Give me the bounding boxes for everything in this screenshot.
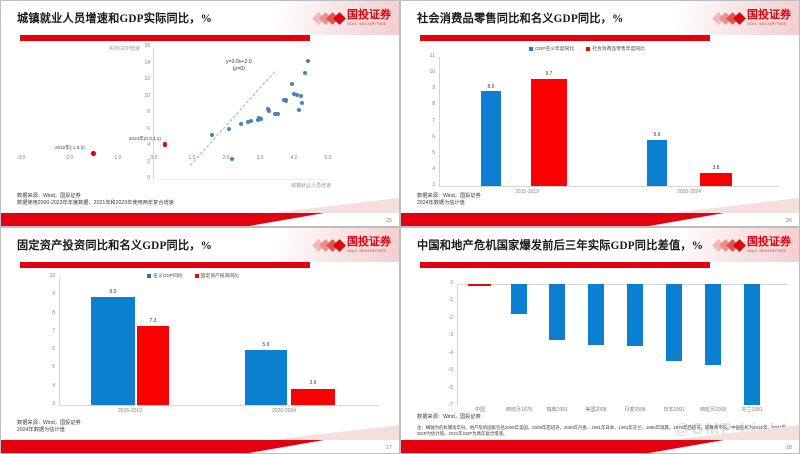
y-tick-3: 3 — [43, 402, 55, 407]
y-axis-line — [457, 284, 458, 406]
y-tick-16: 16 — [137, 44, 150, 49]
y-tick-6: 6 — [137, 127, 150, 132]
x-axis-title: 城镇就业人员增速 — [291, 182, 331, 189]
diamond-icon — [314, 238, 344, 253]
y-tick-8: 8 — [423, 102, 435, 107]
source-line-4a: 数据来源：Wind，国投证券 — [417, 413, 481, 421]
brand-logo-3: 国投证券 SDIC SECURITIES — [314, 233, 391, 257]
x-tick-denmark-2008: 丹麦2008 — [616, 408, 654, 413]
y-tick-n6: -6 — [437, 386, 453, 391]
source-line-1b: 数据使用2000-2023年年度数据，2021年和2023年使用两年复合增速 — [17, 199, 174, 207]
brand-name-en: SDIC SECURITIES — [747, 22, 791, 26]
bar-spain-2008 — [705, 284, 721, 365]
scatter-point — [299, 94, 303, 98]
legend-label-retail: 社会消费品零售年度同比 — [592, 45, 645, 52]
x-tick-sweden-1991: 瑞典1991 — [538, 408, 576, 413]
equation-pvalue: (ρ=0) — [233, 66, 245, 72]
x-tick-10: 1.0 — [182, 156, 202, 161]
y-tick-n5: -5 — [437, 368, 453, 373]
scatter-point — [249, 119, 253, 123]
y-tick-8: 8 — [137, 110, 150, 115]
y-tick-10: 10 — [43, 274, 55, 279]
brand-name-en: SDIC SECURITIES — [347, 22, 391, 26]
scatter-point — [297, 108, 301, 112]
y-tick-4: 4 — [43, 384, 55, 389]
y-tick-14: 14 — [137, 61, 150, 66]
bar-gdp-2020 — [245, 350, 287, 405]
scatter-point — [276, 112, 280, 116]
scatter-point — [306, 59, 310, 63]
bar-fai-2015 — [137, 326, 169, 405]
legend-swatch-red — [586, 47, 590, 51]
bar-value-gdp-2015: 8.9 — [99, 289, 127, 295]
y-tick-n3: -3 — [437, 333, 453, 338]
x-tick-50: 5.0 — [318, 156, 338, 161]
x-axis-line — [59, 405, 379, 406]
brand-logo-2: 国投证券 SDIC SECURITIES — [714, 6, 791, 30]
scatter-chart-1: 实际GDP增速 城镇就业人员增速 16 14 12 10 8 6 4 2 0 -… — [1, 41, 400, 191]
y-tick-5: 5 — [423, 151, 435, 156]
legend-item-fai: 固定资产投资同比 — [195, 272, 239, 279]
x-tick-n30: -3.0 — [11, 156, 31, 161]
brand-name-cn: 国投证券 — [347, 10, 391, 21]
legend-label-gdp: 名义GDP同比 — [153, 272, 183, 279]
x-tick-30: 3.0 — [250, 156, 270, 161]
slide-1: 城镇就业人员增速和GDP实际同比，% 国投证券 SDIC SECURITIES … — [0, 0, 400, 227]
diamond-icon — [714, 11, 744, 26]
y-tick-9: 9 — [43, 292, 55, 297]
bar-denmark-2008 — [627, 284, 643, 346]
page-title-2: 社会消费品零售同比和名义GDP同比，% — [417, 10, 623, 26]
scatter-point — [239, 122, 243, 126]
brand-name-en: SDIC SECURITIES — [747, 249, 791, 253]
slide-deck-grid: 城镇就业人员增速和GDP实际同比，% 国投证券 SDIC SECURITIES … — [0, 0, 800, 454]
legend-label-fai: 固定资产投资同比 — [201, 272, 239, 279]
page-title-3: 固定资产投资同比和名义GDP同比，% — [17, 237, 212, 253]
x-tick-2020-2024: 2020-2024 — [659, 190, 719, 195]
x-tick-spain-1978: 西班牙1978 — [500, 408, 538, 413]
y-tick-3: 3 — [423, 183, 435, 188]
bar-value-retail-2015: 9.7 — [535, 71, 563, 77]
x-axis-line — [153, 179, 328, 180]
y-tick-8: 8 — [43, 311, 55, 316]
legend-item-retail: 社会消费品零售年度同比 — [586, 45, 645, 52]
scatter-point-highlight-2022 — [91, 151, 96, 156]
bar-chart-2: GDP名义年度同比 社会消费品零售年度同比 11 10 9 8 7 6 5 4 … — [401, 41, 800, 196]
bar-value-fai-2020: 3.9 — [299, 380, 327, 386]
x-tick-40: 4.0 — [284, 156, 304, 161]
x-tick-2015-2019: 2015-2019 — [497, 190, 557, 195]
y-tick-12: 12 — [137, 77, 150, 82]
brand-name-cn: 国投证券 — [747, 10, 791, 21]
x-tick-n10: -1.0 — [107, 156, 127, 161]
y-tick-10: 10 — [137, 94, 150, 99]
scatter-label-2023: 2023年(0.3,4.1) — [129, 136, 161, 142]
x-tick-usa-2008: 美国2008 — [577, 408, 615, 413]
y-tick-n4: -4 — [437, 351, 453, 356]
y-tick-7: 7 — [43, 329, 55, 334]
y-tick-6: 6 — [423, 135, 435, 140]
y-tick-7: 7 — [423, 119, 435, 124]
scatter-point — [267, 109, 271, 113]
bar-gdp-2020 — [647, 140, 667, 186]
x-tick-finland-1991: 芬兰1991 — [733, 408, 771, 413]
page-number-1: 25 — [386, 218, 392, 224]
legend-label-gdp: GDP名义年度同比 — [535, 45, 574, 52]
footer-wedge-3 — [249, 425, 399, 453]
bar-value-gdp-2020: 5.9 — [252, 342, 280, 348]
regression-equation: y=3.0x+2.0 (ρ=0) — [226, 59, 252, 73]
y-tick-0: 0 — [441, 281, 453, 286]
footer-wedge-4 — [649, 425, 799, 453]
chart-legend-2: GDP名义年度同比 社会消费品零售年度同比 — [529, 45, 645, 52]
x-tick-japan-1991: 日本1991 — [655, 408, 693, 413]
slide-3: 固定资产投资同比和名义GDP同比，% 国投证券 SDIC SECURITIES … — [0, 227, 400, 454]
x-axis-line — [439, 186, 779, 187]
page-title-1: 城镇就业人员增速和GDP实际同比，% — [17, 10, 212, 26]
scatter-point-highlight-2023 — [163, 142, 168, 147]
chart-legend-3: 名义GDP同比 固定资产投资同比 — [147, 272, 239, 279]
bar-value-gdp-2020: 5.9 — [643, 132, 671, 138]
footer-wedge-1 — [249, 198, 399, 226]
bar-chart-3: 名义GDP同比 固定资产投资同比 10 9 8 7 6 5 4 3 8.9 7.… — [1, 268, 400, 418]
y-tick-4: 4 — [137, 143, 150, 148]
bar-value-fai-2015: 7.3 — [139, 318, 167, 324]
slide-2: 社会消费品零售同比和名义GDP同比，% 国投证券 SDIC SECURITIES… — [400, 0, 800, 227]
y-tick-5: 5 — [43, 365, 55, 370]
legend-item-gdp: GDP名义年度同比 — [529, 45, 574, 52]
y-tick-0: 0 — [137, 176, 150, 181]
source-line-2b: 2024年数据为估计值 — [417, 199, 465, 207]
scatter-point — [284, 98, 288, 102]
legend-swatch-red — [195, 274, 199, 278]
bar-gdp-2015 — [91, 297, 135, 405]
legend-item-gdp: 名义GDP同比 — [147, 272, 183, 279]
source-line-3b: 2024年数据为估计值 — [17, 426, 65, 434]
bar-finland-1991 — [744, 284, 760, 405]
brand-name-en: SDIC SECURITIES — [347, 249, 391, 253]
brand-logo-4: 国投证券 SDIC SECURITIES — [714, 233, 791, 257]
x-tick-2015-2019: 2015-2019 — [100, 409, 160, 414]
brand-logo-1: 国投证券 SDIC SECURITIES — [314, 6, 391, 30]
y-axis-line — [59, 277, 60, 405]
equation-text: y=3.0x+2.0 — [226, 59, 252, 65]
bar-value-gdp-2015: 8.9 — [477, 84, 505, 90]
scatter-point — [303, 71, 307, 75]
x-tick-2020-2024: 2020-2024 — [254, 409, 314, 414]
bar-fai-2020 — [291, 389, 335, 406]
x-tick-spain-2008: 西班牙2008 — [694, 408, 732, 413]
bar-gdp-2015 — [481, 91, 501, 186]
bar-chart-4: 0 -1 -2 -3 -4 -5 -6 -7 中国 西班牙1978 瑞典1991… — [401, 268, 800, 413]
scatter-point — [300, 101, 304, 105]
y-axis-title: 实际GDP增速 — [109, 45, 140, 52]
slide-4: 中国和地产危机国家爆发前后三年实际GDP同比差值，% 国投证券 SDIC SEC… — [400, 227, 800, 454]
legend-swatch-blue — [147, 274, 151, 278]
bar-value-retail-2020: 3.8 — [702, 165, 730, 171]
brand-name-cn: 国投证券 — [747, 237, 791, 248]
y-tick-n1: -1 — [437, 298, 453, 303]
scatter-point — [227, 127, 231, 131]
y-axis-line — [439, 57, 440, 186]
bar-retail-2015 — [531, 79, 567, 187]
footer-wedge-2 — [649, 198, 799, 226]
bar-usa-2008 — [588, 284, 604, 345]
scatter-point — [290, 82, 294, 86]
y-tick-6: 6 — [43, 347, 55, 352]
diamond-icon — [714, 238, 744, 253]
bar-spain-1978 — [511, 284, 527, 314]
page-number-2: 26 — [786, 218, 792, 224]
y-tick-n2: -2 — [437, 316, 453, 321]
page-number-4: 28 — [786, 445, 792, 451]
y-tick-n7: -7 — [437, 403, 453, 408]
page-title-4: 中国和地产危机国家爆发前后三年实际GDP同比差值，% — [417, 237, 703, 253]
bar-sweden-1991 — [549, 284, 565, 340]
x-tick-00: 0.0 — [144, 156, 164, 161]
y-tick-9: 9 — [423, 86, 435, 91]
x-axis-zero-line — [457, 284, 787, 285]
scatter-point — [258, 117, 262, 121]
brand-name-cn: 国投证券 — [347, 237, 391, 248]
x-tick-n20: -2.0 — [59, 156, 79, 161]
diamond-icon — [314, 11, 344, 26]
scatter-label-2022: 2022年(-1.8,3) — [55, 145, 85, 151]
y-tick-11: 11 — [423, 54, 435, 59]
bar-china — [468, 284, 491, 286]
y-tick-4: 4 — [423, 167, 435, 172]
bar-retail-2020 — [700, 173, 732, 186]
legend-swatch-blue — [529, 47, 533, 51]
y-tick-10: 10 — [423, 70, 435, 75]
bar-japan-1991 — [666, 284, 682, 361]
page-number-3: 27 — [386, 445, 392, 451]
